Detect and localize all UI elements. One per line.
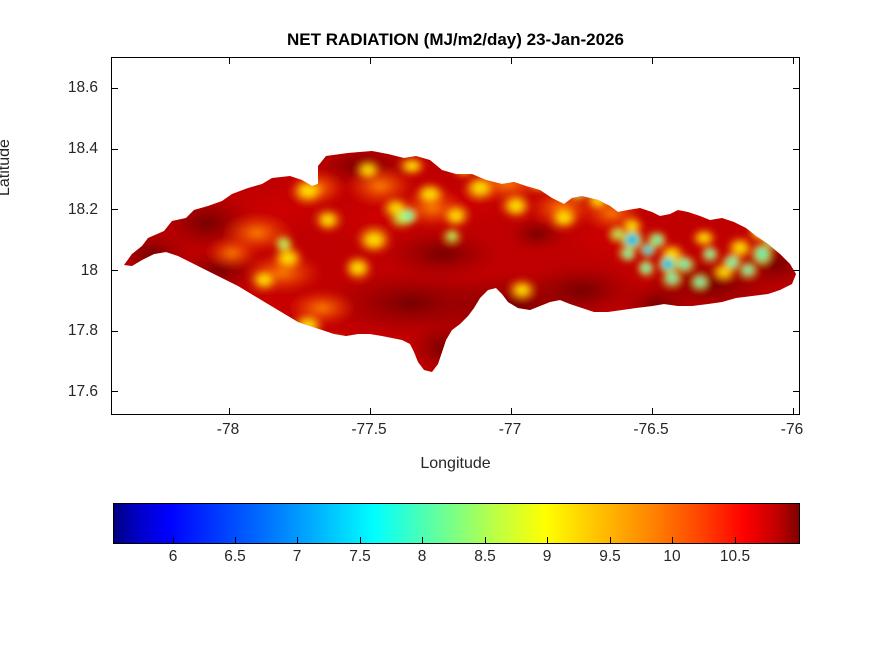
x2-tickmark-0 <box>229 58 230 64</box>
page-title: NET RADIATION (MJ/m2/day) 23-Jan-2026 <box>111 30 800 50</box>
colorbar-tickmark-0 <box>173 537 174 544</box>
x-tickmark-4 <box>793 408 794 414</box>
y-tick-label-3: 18 <box>38 263 98 278</box>
y2-tickmark-4 <box>793 331 799 332</box>
y-tick-label-5: 17.6 <box>38 384 98 399</box>
x2-tickmark-3 <box>652 58 653 64</box>
x-tick-label-4: -76 <box>757 422 827 437</box>
colorbar-label-5: 8.5 <box>455 548 515 566</box>
x-tickmark-3 <box>652 408 653 414</box>
colorbar-label-3: 7.5 <box>330 548 390 566</box>
colorbar-label-1: 6.5 <box>205 548 265 566</box>
colorbar-tickmark-2 <box>297 537 298 544</box>
y-tickmark-2 <box>112 209 118 210</box>
x-tickmark-1 <box>370 408 371 414</box>
y-tick-label-1: 18.4 <box>38 141 98 156</box>
colorbar-tickmark-6 <box>547 537 548 544</box>
y-tick-label-2: 18.2 <box>38 202 98 217</box>
y2-tickmark-1 <box>793 149 799 150</box>
y2-tickmark-0 <box>793 88 799 89</box>
colorbar-gradient <box>113 503 800 544</box>
y2-tickmark-2 <box>793 209 799 210</box>
x-tick-label-3: -76.5 <box>616 422 686 437</box>
x-tick-label-2: -77 <box>475 422 545 437</box>
x-tick-label-0: -78 <box>193 422 263 437</box>
x-tickmark-2 <box>511 408 512 414</box>
colorbar-label-8: 10 <box>642 548 702 566</box>
x2-tickmark-1 <box>370 58 371 64</box>
colorbar-tickmark-7 <box>610 537 611 544</box>
colorbar-tickmark-4 <box>422 537 423 544</box>
colorbar-label-4: 8 <box>392 548 452 566</box>
colorbar-tickmark-9 <box>735 537 736 544</box>
y-tickmark-5 <box>112 391 118 392</box>
x2-tickmark-4 <box>793 58 794 64</box>
x-tick-label-1: -77.5 <box>334 422 404 437</box>
x2-tickmark-2 <box>511 58 512 64</box>
colorbar-tickmark-8 <box>672 537 673 544</box>
map-plot-area[interactable] <box>111 57 800 415</box>
y-tickmark-0 <box>112 88 118 89</box>
y-tickmark-1 <box>112 149 118 150</box>
colorbar-label-2: 7 <box>267 548 327 566</box>
y-tickmark-4 <box>112 331 118 332</box>
x-tickmark-0 <box>229 408 230 414</box>
colorbar-label-6: 9 <box>517 548 577 566</box>
colorbar-label-9: 10.5 <box>705 548 765 566</box>
figure-canvas: NET RADIATION (MJ/m2/day) 23-Jan-2026 La… <box>0 0 875 656</box>
y-tick-label-4: 17.8 <box>38 323 98 338</box>
colorbar[interactable] <box>113 503 800 544</box>
y-tickmark-3 <box>112 270 118 271</box>
x-axis-label: Longitude <box>111 455 800 473</box>
y2-tickmark-3 <box>793 270 799 271</box>
colorbar-tickmark-3 <box>360 537 361 544</box>
y-tick-label-0: 18.6 <box>38 80 98 95</box>
colorbar-label-0: 6 <box>143 548 203 566</box>
y2-tickmark-5 <box>793 391 799 392</box>
colorbar-tickmark-5 <box>485 537 486 544</box>
y-axis-label: Latitude <box>0 139 14 196</box>
colorbar-tickmark-1 <box>235 537 236 544</box>
colorbar-label-7: 9.5 <box>580 548 640 566</box>
net-radiation-heatmap <box>112 58 799 414</box>
